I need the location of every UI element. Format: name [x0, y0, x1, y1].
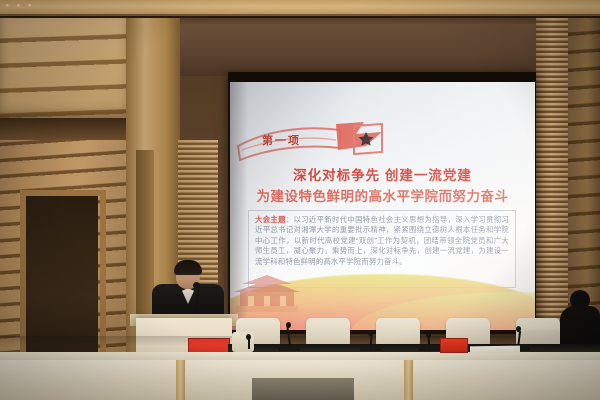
attendee-right [560, 290, 600, 352]
desk-red-object [440, 338, 468, 353]
desk-seam [176, 360, 185, 400]
left-beam [0, 118, 132, 140]
desk-microphone-base [278, 347, 300, 351]
slide-body-text: 大会主题：以习近平新时代中国特色社会主义思想为指导，深入学习贯彻习近平总书记对湘… [255, 215, 509, 267]
podium-sign-text: ● ● ● [0, 3, 40, 9]
speaker-glasses [178, 273, 198, 279]
ribbon-banner: 第一项 [236, 120, 386, 164]
attendee-head [570, 290, 590, 310]
slide-body-separator: ： [286, 215, 294, 224]
projected-slide: 第一项 深化对标争先 创建一流党建 为建设特色鲜明的高水平学院而努力奋斗 大会主… [230, 82, 535, 330]
ribbon-label: 第一项 [262, 132, 301, 148]
slide-body-paragraph: 以习近平新时代中国特色社会主义思想为指导，深入学习贯彻习近平总书记对湘潭大学的重… [255, 215, 509, 266]
desk-microphone-stand [248, 339, 250, 349]
slide-body-keyword: 大会主题 [255, 215, 286, 224]
slide-title-line1: 深化对标争先 创建一流党建 [230, 164, 535, 184]
left-upper-panel [0, 18, 128, 118]
photo-scene: 第一项 深化对标争先 创建一流党建 为建设特色鲜明的高水平学院而努力奋斗 大会主… [0, 0, 600, 400]
desk-center-panel [252, 378, 354, 400]
left-upper-slats [0, 18, 128, 118]
screen-top-bar [228, 72, 536, 82]
slide-title-line2: 为建设特色鲜明的高水平学院而努力奋斗 [230, 185, 535, 205]
desk-seam [404, 360, 413, 400]
desk-microphone-base [360, 347, 382, 351]
screen-left-shadow [230, 82, 248, 330]
desk-microphone-base [418, 347, 440, 351]
podium-microphone-head [193, 282, 200, 289]
desk-papers [470, 346, 520, 354]
